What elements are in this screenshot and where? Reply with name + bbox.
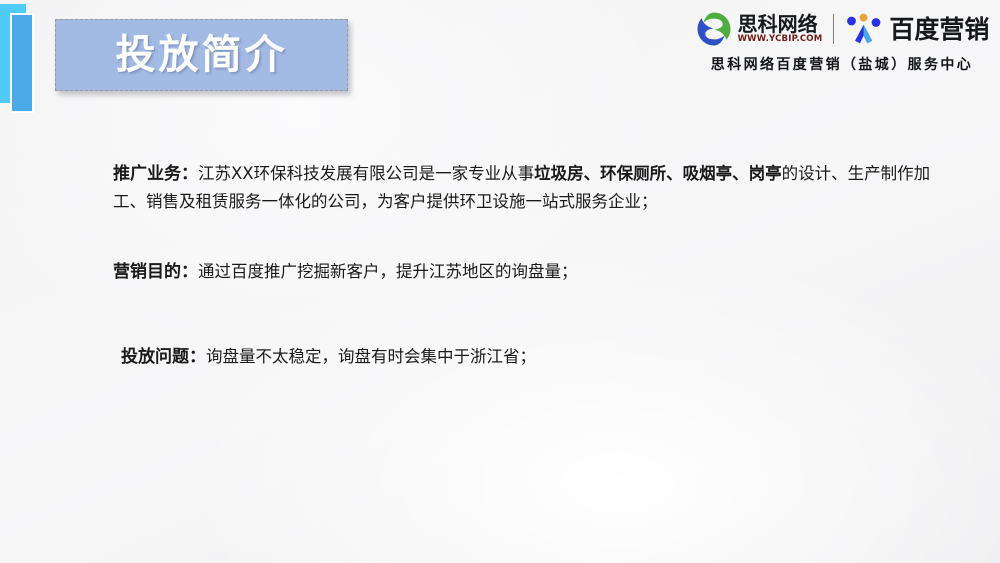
slide-root: { "slide": { "title": "投放简介", "colors": … bbox=[0, 0, 1000, 563]
brand-service-center-subtitle: 思科网络百度营销（盐城）服务中心 bbox=[711, 54, 973, 74]
sike-wordmark: 思科网络 WWW.YCBIP.COM bbox=[738, 14, 823, 44]
sike-website-url: WWW.YCBIP.COM bbox=[738, 35, 823, 44]
paragraph-colon: ： bbox=[181, 164, 198, 184]
paragraph-colon: ： bbox=[189, 347, 206, 367]
slide-title-plaque: 投放简介 bbox=[55, 19, 348, 91]
slide-body: 推广业务：江苏XX环保科技发展有限公司是一家专业从事垃圾房、环保厕所、吸烟亭、岗… bbox=[0, 160, 1000, 371]
baidu-marketing-name: 百度营销 bbox=[889, 17, 989, 42]
paragraph-text-plain: 通过百度推广挖掘新客户，提升江苏地区的询盘量； bbox=[198, 262, 578, 281]
paragraph-delivery-problem: 投放问题：询盘量不太稳定，询盘有时会集中于浙江省； bbox=[0, 343, 1000, 371]
paragraph-label: 推广业务 bbox=[113, 164, 181, 184]
paragraph-promotion-business: 推广业务：江苏XX环保科技发展有限公司是一家专业从事垃圾房、环保厕所、吸烟亭、岗… bbox=[0, 160, 1000, 215]
paragraph-label: 投放问题 bbox=[121, 347, 189, 367]
paragraph-label: 营销目的 bbox=[113, 262, 181, 282]
sike-network-logo-icon bbox=[695, 10, 733, 48]
paragraph-text-plain: 询盘量不太稳定，询盘有时会集中于浙江省； bbox=[206, 347, 536, 366]
paragraph-marketing-goal: 营销目的：通过百度推广挖掘新客户，提升江苏地区的询盘量； bbox=[0, 258, 1000, 286]
baidu-marketing-logo-icon bbox=[845, 13, 883, 45]
sike-name-cn: 思科网络 bbox=[738, 14, 823, 34]
brand-divider bbox=[833, 14, 834, 44]
paragraph-colon: ： bbox=[181, 262, 198, 282]
brand-logo-row: 思科网络 WWW.YCBIP.COM 百度营销 bbox=[695, 8, 990, 50]
accent-bar-inner bbox=[10, 13, 34, 113]
paragraph-text-plain: 江苏XX环保科技发展有限公司是一家专业从事 bbox=[198, 164, 534, 183]
paragraph-text-emphasis: 垃圾房、环保厕所、吸烟亭、岗亭 bbox=[534, 164, 782, 183]
page-title: 投放简介 bbox=[116, 35, 288, 75]
brand-lockup: 思科网络 WWW.YCBIP.COM 百度营销 思科网络百度营销（盐城）服务中心 bbox=[692, 8, 992, 74]
